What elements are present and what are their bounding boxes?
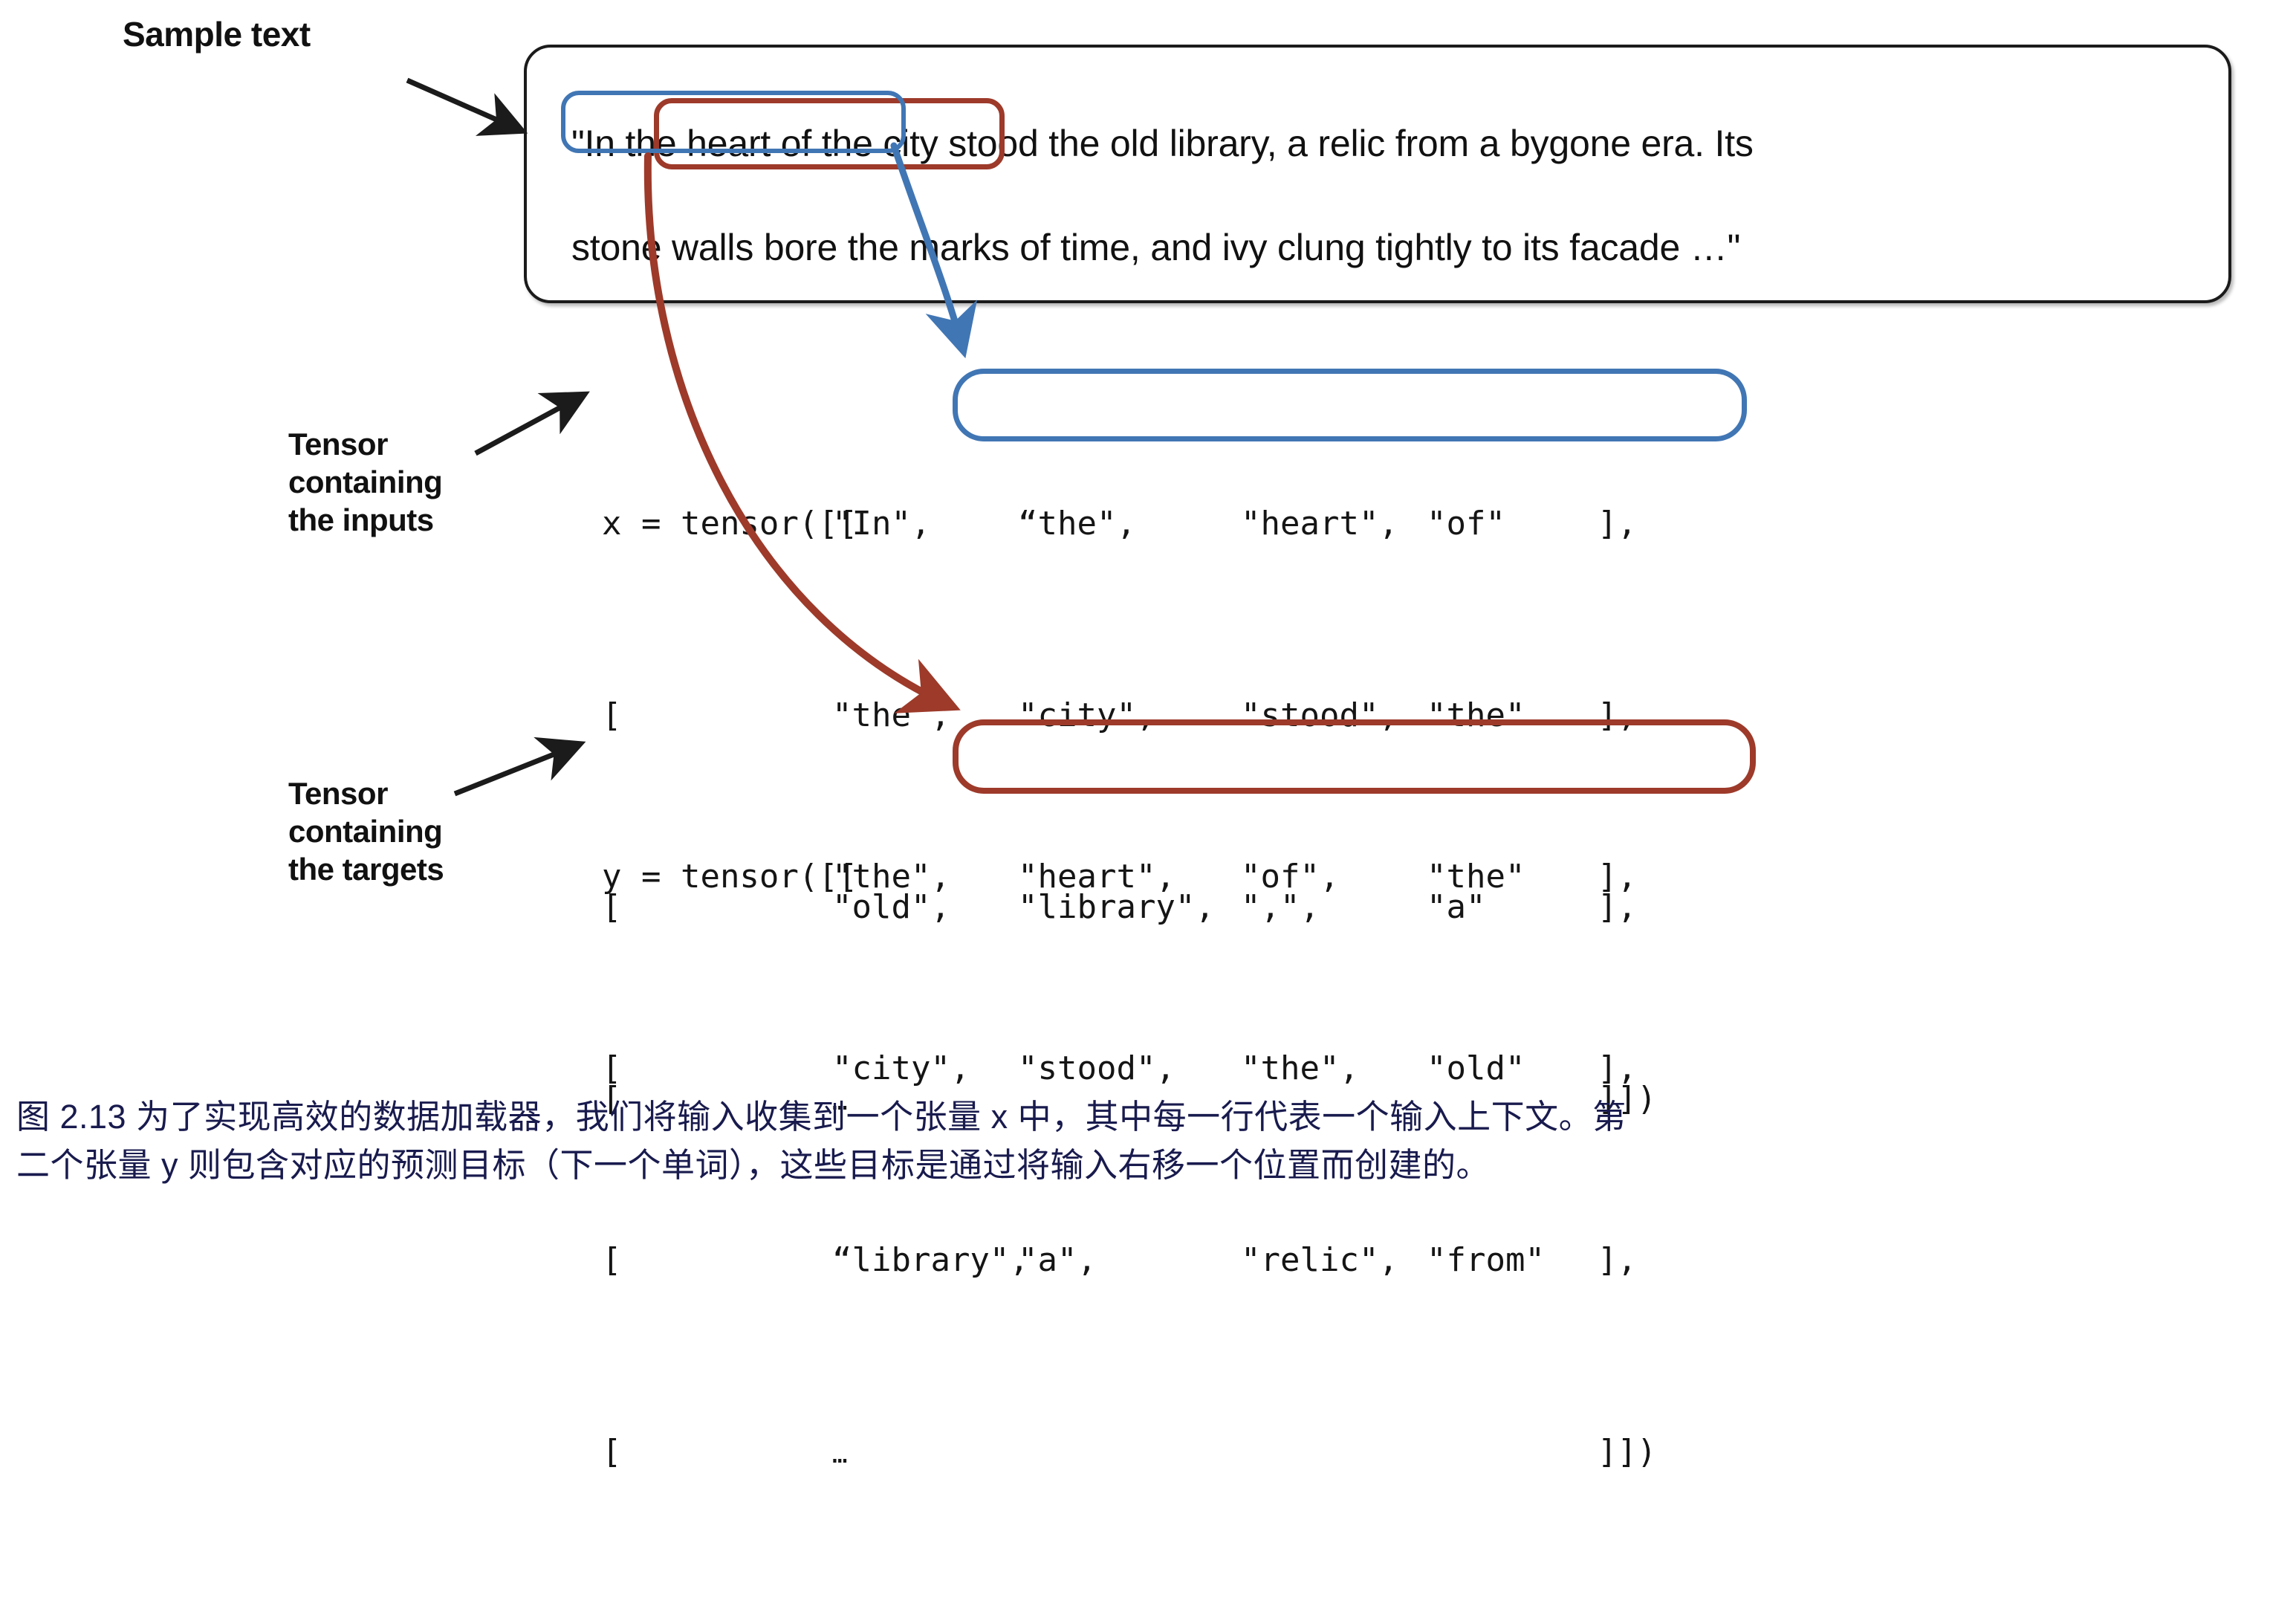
- y-r2-c0: “library",: [832, 1229, 1018, 1292]
- y-r1-c1: "stood",: [1018, 1037, 1241, 1101]
- y-tensor-row-0: y = tensor([["the","heart","of","the"],: [602, 845, 1657, 909]
- figure-canvas: Sample text "In the heart of the city st…: [0, 0, 2296, 1240]
- tensor-inputs-label: Tensor containing the inputs: [288, 425, 442, 540]
- y-r1-tail: ],: [1598, 1037, 1657, 1101]
- y-r3-tail: ]]): [1598, 1420, 1657, 1484]
- y-r1-c0: "city",: [832, 1037, 1018, 1101]
- sample-text-label: Sample text: [123, 13, 311, 55]
- figure-caption-line-2: 二个张量 y 则包含对应的预测目标（下一个单词），这些目标是通过将输入右移一个位…: [16, 1141, 2283, 1189]
- y-r1-c3: "old": [1427, 1037, 1598, 1101]
- y-r1-c2: "the",: [1241, 1037, 1427, 1101]
- tensor-targets-label: Tensor containing the targets: [288, 774, 444, 889]
- sample-text-line-2: stone walls bore the marks of time, and …: [571, 226, 2206, 269]
- y-r3-lead: [: [602, 1420, 832, 1484]
- x-r0-c3: "of": [1427, 492, 1598, 556]
- figure-caption-line-1: 图 2.13 为了实现高效的数据加载器，我们将输入收集到一个张量 x 中，其中每…: [16, 1093, 2283, 1141]
- x-r0-c0: "In",: [832, 492, 1018, 556]
- tensor-inputs-label-l1: Tensor: [288, 425, 442, 463]
- y-r3-ellipsis: …: [832, 1422, 1018, 1486]
- tensor-targets-label-l2: containing: [288, 812, 444, 850]
- x-r0-c1: “the",: [1018, 492, 1241, 556]
- y-r0-c0: "the",: [832, 845, 1018, 909]
- y-r0-tail: ],: [1598, 845, 1657, 909]
- x-r0-c2: "heart",: [1241, 492, 1427, 556]
- tensor-targets-label-l3: the targets: [288, 850, 444, 888]
- tensor-inputs-label-l2: containing: [288, 463, 442, 501]
- blue-highlight-x-row: [953, 369, 1747, 441]
- y-r0-c1: "heart",: [1018, 845, 1241, 909]
- y-r2-c2: "relic",: [1241, 1229, 1427, 1292]
- y-r2-c3: "from": [1427, 1229, 1598, 1292]
- x-tensor-row-0: x = tensor([["In",“the","heart","of"],: [602, 492, 1657, 556]
- y-r2-c1: "a",: [1018, 1229, 1241, 1292]
- y-tensor-arrow: [455, 745, 578, 794]
- y-tensor-row-1: ["city","stood","the","old"],: [602, 1037, 1657, 1101]
- x-tensor-prefix: x = tensor([[: [602, 492, 832, 556]
- x-tensor-arrow: [476, 395, 583, 453]
- figure-caption: 图 2.13 为了实现高效的数据加载器，我们将输入收集到一个张量 x 中，其中每…: [16, 1093, 2283, 1190]
- blue-highlight-sample-text: [561, 91, 906, 153]
- sample-text-arrow: [407, 80, 520, 130]
- y-r0-c2: "of",: [1241, 845, 1427, 909]
- tensor-inputs-label-l3: the inputs: [288, 501, 442, 539]
- x-r0-tail: ],: [1598, 492, 1657, 556]
- y-tensor-prefix: y = tensor([[: [602, 845, 832, 909]
- y-r0-c3: "the": [1427, 845, 1598, 909]
- y-r2-tail: ],: [1598, 1229, 1657, 1292]
- y-r2-lead: [: [602, 1229, 832, 1292]
- y-r1-lead: [: [602, 1037, 832, 1101]
- y-tensor-row-3: […]]): [602, 1420, 1657, 1484]
- sample-text-box: "In the heart of the city stood the old …: [524, 45, 2231, 303]
- red-highlight-y-row: [953, 719, 1756, 794]
- tensor-targets-label-l1: Tensor: [288, 774, 444, 812]
- y-tensor-row-2: [“library","a","relic","from"],: [602, 1229, 1657, 1292]
